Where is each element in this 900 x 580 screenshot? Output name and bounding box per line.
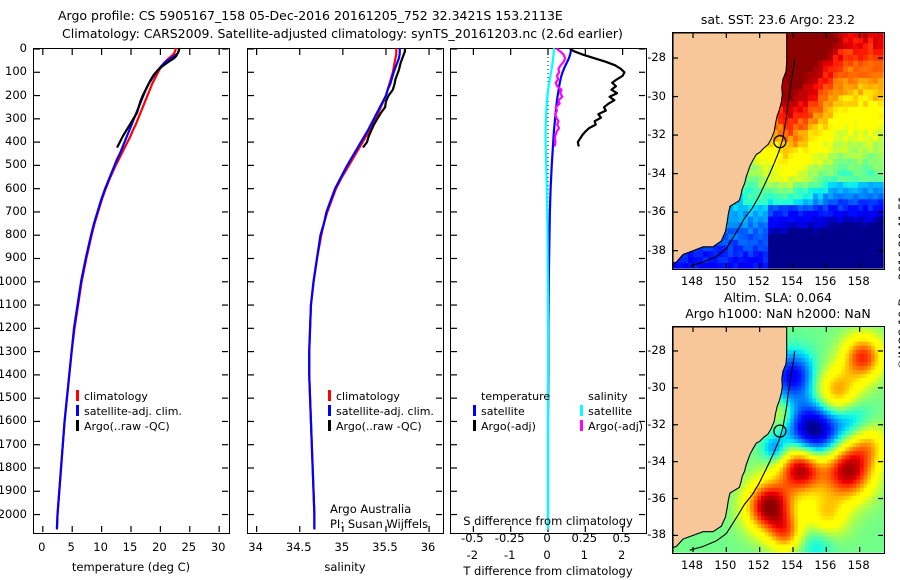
tick-label: 400	[5, 134, 27, 148]
tick-label: 148	[681, 274, 703, 288]
tick-label: -38	[647, 527, 666, 541]
map-sst-xtick-labels: 148150152154156158	[672, 274, 885, 288]
tick-label: -1	[504, 548, 515, 562]
tick-label: 154	[781, 274, 803, 288]
tick-label: 1500	[0, 390, 27, 404]
legend-label: Argo(-adj)	[588, 420, 643, 433]
legend-label: satellite	[481, 405, 525, 418]
tick-label: 0	[543, 548, 550, 562]
tick-label: 100	[5, 64, 27, 78]
legend-label: climatology	[84, 390, 148, 403]
tick-label: -30	[647, 380, 666, 394]
tick-label: 200	[5, 88, 27, 102]
legend-item: Argo(-adj)	[580, 420, 643, 433]
tick-label: 150	[714, 274, 736, 288]
legend-item: satellite-adj. clim.	[76, 405, 182, 418]
legend-label: Argo(..raw -QC)	[84, 420, 170, 433]
tick-label: 300	[5, 111, 27, 125]
imos-credit: ©IMOS 10-Dec-2016 20:41:51	[896, 370, 900, 384]
legend-column-title: salinity	[588, 390, 643, 403]
tick-label: 2000	[0, 507, 27, 521]
legend-label: satellite-adj. clim.	[84, 405, 182, 418]
tick-label: -34	[647, 166, 666, 180]
tick-label: 5	[68, 540, 75, 554]
difference-legend: temperature satellite Argo(-adj) salinit…	[473, 390, 643, 433]
map-sla-xtick-labels: 148150152154156158	[672, 558, 885, 572]
tick-label: 15	[123, 540, 138, 554]
salinity-legend: climatology satellite-adj. clim. Argo(..…	[328, 390, 434, 433]
tick-label: 1800	[0, 460, 27, 474]
panel-temperature	[33, 48, 230, 534]
attribution-line-2: PI: Susan Wijffels	[330, 517, 428, 531]
tick-label: 0	[20, 41, 27, 55]
difference-top-xtick-labels: -0.5-0.2500.250.5	[450, 531, 647, 545]
header-line-1: Argo profile: CS 5905167_158 05-Dec-2016…	[58, 8, 563, 23]
tick-label: 0.25	[571, 531, 597, 545]
tick-label: 35.5	[372, 540, 398, 554]
map-sst-ytick-labels: -28-30-32-34-36-38	[640, 32, 670, 270]
tick-label: 35	[335, 540, 350, 554]
legend-swatch-satellite-adj	[76, 405, 79, 416]
tick-label: -30	[647, 89, 666, 103]
panel-difference	[450, 48, 647, 534]
tick-label: 900	[5, 250, 27, 264]
legend-label: Argo(-adj)	[481, 420, 536, 433]
legend-swatch-argo-raw	[76, 420, 79, 431]
map-sla-ytick-labels: -28-30-32-34-36-38	[640, 326, 670, 554]
temperature-legend: climatology satellite-adj. clim. Argo(..…	[76, 390, 182, 433]
legend-swatch-climatology	[76, 390, 79, 401]
tick-label: 0.5	[612, 531, 630, 545]
difference-legend-column-salinity: salinity satellite Argo(-adj)	[580, 390, 643, 433]
legend-item: Argo(..raw -QC)	[328, 420, 434, 433]
tick-label: 1900	[0, 483, 27, 497]
depth-axis-labels: 0100200300400500600700800900100011001200…	[0, 48, 31, 534]
legend-item: Argo(..raw -QC)	[76, 420, 182, 433]
temperature-axis-label: temperature (deg C)	[72, 560, 190, 574]
tick-label: -0.25	[495, 531, 525, 545]
tick-label: 34.5	[286, 540, 312, 554]
tick-label: 158	[848, 274, 870, 288]
header-line-2: Climatology: CARS2009. Satellite-adjuste…	[62, 26, 623, 41]
tick-label: 1600	[0, 413, 27, 427]
tick-label: -2	[467, 548, 478, 562]
tick-label: 34	[248, 540, 263, 554]
tick-label: 500	[5, 157, 27, 171]
legend-label: Argo(..raw -QC)	[336, 420, 422, 433]
difference-top-axis-label: S difference from climatology	[463, 514, 633, 528]
tick-label: 1400	[0, 367, 27, 381]
legend-swatch-sal-satellite	[580, 405, 583, 416]
tick-label: 2	[618, 548, 625, 562]
tick-label: 700	[5, 204, 27, 218]
tick-label: 25	[181, 540, 196, 554]
tick-label: -34	[647, 454, 666, 468]
tick-label: -32	[647, 127, 666, 141]
legend-swatch-sal-argo	[580, 420, 583, 431]
tick-label: 148	[681, 558, 703, 572]
legend-swatch-satellite-adj	[328, 405, 331, 416]
tick-label: 0	[38, 540, 45, 554]
legend-label: climatology	[336, 390, 400, 403]
legend-label: satellite-adj. clim.	[336, 405, 434, 418]
tick-label: -28	[647, 50, 666, 64]
attribution-block: Argo Australia PI: Susan Wijffels	[330, 502, 428, 531]
tick-label: 154	[781, 558, 803, 572]
legend-item: climatology	[328, 390, 434, 403]
tick-label: 150	[714, 558, 736, 572]
temperature-xtick-labels: 051015202530	[33, 540, 230, 554]
legend-swatch-argo-raw	[328, 420, 331, 431]
tick-label: 152	[748, 274, 770, 288]
difference-bottom-axis-label: T difference from climatology	[463, 564, 632, 578]
tick-label: 36	[421, 540, 436, 554]
tick-label: 1700	[0, 437, 27, 451]
tick-label: -36	[647, 204, 666, 218]
tick-label: -32	[647, 417, 666, 431]
legend-label: satellite	[588, 405, 632, 418]
salinity-xtick-labels: 3434.53535.536	[247, 540, 444, 554]
tick-label: 1200	[0, 320, 27, 334]
legend-item: satellite	[473, 405, 550, 418]
attribution-line-1: Argo Australia	[330, 502, 428, 516]
legend-item: satellite	[580, 405, 643, 418]
tick-label: 20	[152, 540, 167, 554]
tick-label: -28	[647, 343, 666, 357]
map-sst-title: sat. SST: 23.6 Argo: 23.2	[701, 12, 855, 27]
tick-label: 156	[814, 558, 836, 572]
legend-swatch-climatology	[328, 390, 331, 401]
tick-label: 1300	[0, 344, 27, 358]
imos-credit-text: ©IMOS 10-Dec-2016 20:41:51	[896, 195, 900, 370]
panel-salinity	[247, 48, 444, 534]
legend-item: Argo(-adj)	[473, 420, 550, 433]
legend-item: climatology	[76, 390, 182, 403]
tick-label: 0	[543, 531, 550, 545]
map-sst	[672, 32, 885, 270]
tick-label: 152	[748, 558, 770, 572]
legend-swatch-temp-satellite	[473, 405, 476, 416]
tick-label: 800	[5, 227, 27, 241]
legend-item: satellite-adj. clim.	[328, 405, 434, 418]
tick-label: 1	[581, 548, 588, 562]
tick-label: -0.5	[461, 531, 483, 545]
map-sla-title-line-1: Altim. SLA: 0.064	[724, 290, 832, 305]
tick-label: 156	[814, 274, 836, 288]
legend-swatch-temp-argo	[473, 420, 476, 431]
tick-label: 1000	[0, 274, 27, 288]
tick-label: 30	[211, 540, 226, 554]
difference-legend-column-temperature: temperature satellite Argo(-adj)	[473, 390, 550, 433]
tick-label: -38	[647, 243, 666, 257]
legend-column-title: temperature	[481, 390, 550, 403]
map-sla	[672, 326, 885, 554]
tick-label: -36	[647, 491, 666, 505]
map-sla-title-line-2: Argo h1000: NaN h2000: NaN	[685, 306, 871, 321]
salinity-axis-label: salinity	[324, 560, 365, 574]
difference-bottom-xtick-labels: -2-1012	[450, 548, 647, 562]
tick-label: 600	[5, 181, 27, 195]
tick-label: 10	[93, 540, 108, 554]
tick-label: 158	[848, 558, 870, 572]
tick-label: 1100	[0, 297, 27, 311]
